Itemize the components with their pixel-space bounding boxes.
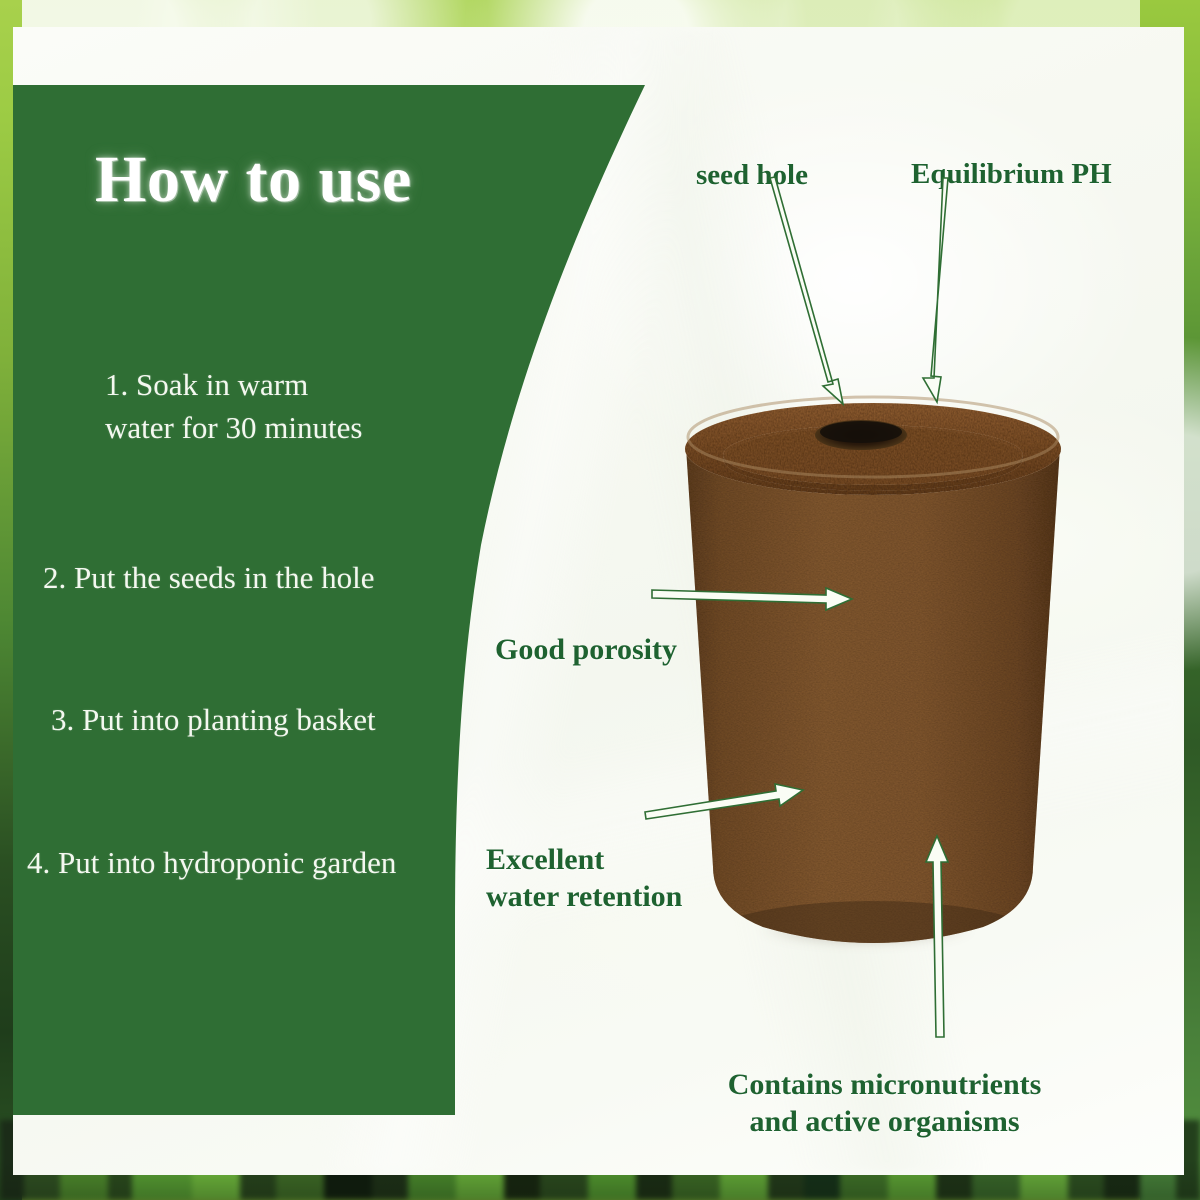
- instructions-panel-shape: [13, 85, 673, 1115]
- instruction-step-3: 3. Put into planting basket: [51, 699, 376, 742]
- instruction-step-2: 2. Put the seeds in the hole: [43, 557, 374, 600]
- content-card: How to use 1. Soak in warm water for 30 …: [13, 27, 1184, 1175]
- instructions-panel: [13, 85, 673, 1115]
- callout-label-water-retention: Excellent water retention: [486, 842, 682, 915]
- instruction-step-1: 1. Soak in warm water for 30 minutes: [105, 364, 362, 450]
- callout-label-good-porosity: Good porosity: [495, 632, 677, 669]
- callout-label-micronutrients: Contains micronutrients and active organ…: [697, 1067, 1072, 1140]
- product-photo: [653, 387, 1093, 987]
- page-title: How to use: [95, 142, 412, 218]
- product-infographic: How to use 1. Soak in warm water for 30 …: [0, 0, 1200, 1200]
- coir-plug-illustration: [653, 387, 1093, 987]
- callout-label-seed-hole: seed hole: [696, 158, 808, 193]
- callout-label-equilibrium-ph: Equilibrium PH: [911, 157, 1112, 192]
- instruction-step-4: 4. Put into hydroponic garden: [27, 842, 396, 885]
